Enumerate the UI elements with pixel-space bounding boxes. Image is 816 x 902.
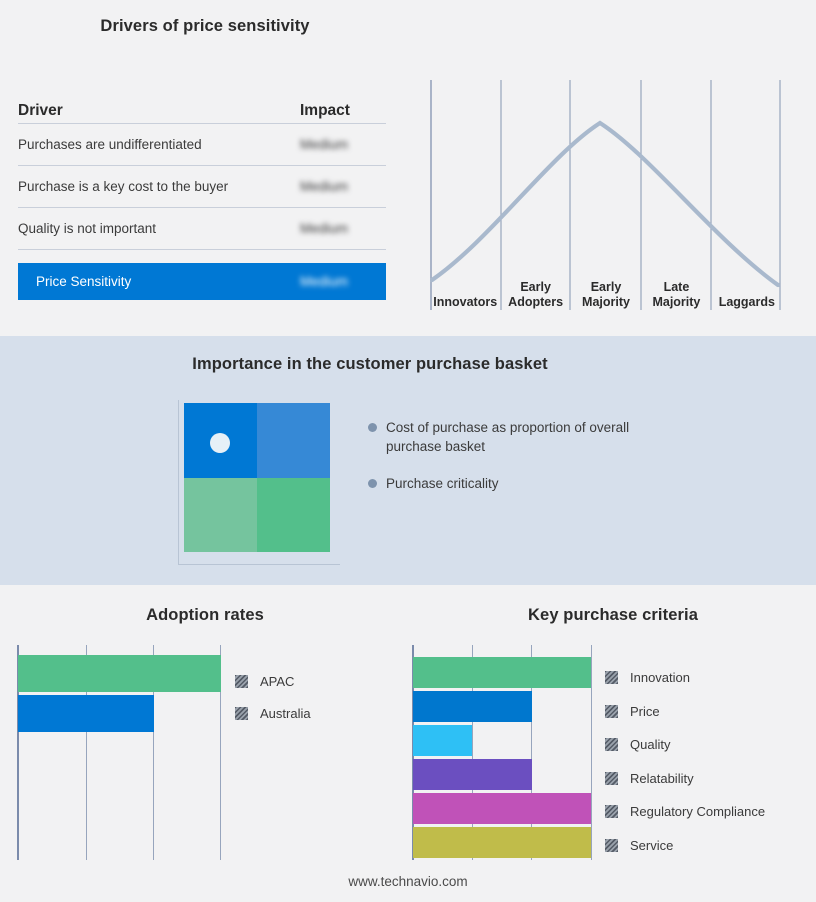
hatch-swatch-icon [605, 805, 618, 818]
bullet-icon [368, 423, 377, 432]
adoption-rates-panel-title: Adoption rates [0, 606, 410, 625]
list-item: Quality [605, 728, 805, 762]
column-header-driver: Driver [18, 102, 300, 120]
list-item: Service [605, 829, 805, 863]
lifecycle-stage-labels: Innovators Early Adopters Early Majority… [430, 270, 782, 312]
infographic-page: Drivers of price sensitivity Driver Impa… [0, 0, 816, 902]
column-header-impact: Impact [300, 102, 386, 120]
hatch-swatch-icon [235, 707, 248, 720]
importance-legend: Cost of purchase as proportion of overal… [368, 418, 658, 511]
list-item: Relatability [605, 762, 805, 796]
adoption-rates-chart [0, 645, 240, 860]
legend-label: Service [630, 838, 673, 853]
legend-label: Quality [630, 737, 670, 752]
driver-name: Quality is not important [18, 221, 300, 236]
table-row-highlighted: Price Sensitivity Medium [18, 263, 386, 300]
hatch-swatch-icon [605, 839, 618, 852]
impact-value: Medium [300, 137, 386, 152]
lifecycle-stage-early-majority: Early Majority [571, 270, 641, 312]
legend-label: Regulatory Compliance [630, 804, 765, 819]
importance-panel-title: Importance in the customer purchase bask… [0, 355, 740, 374]
impact-value: Medium [300, 221, 386, 236]
list-item: Cost of purchase as proportion of overal… [368, 418, 658, 456]
key-purchase-criteria-legend: Innovation Price Quality Relatability Re… [605, 661, 805, 862]
stage-label-line2: Laggards [719, 295, 775, 310]
panel-drivers-of-price-sensitivity: Drivers of price sensitivity Driver Impa… [0, 0, 410, 336]
bar-australia [18, 695, 154, 732]
lifecycle-stage-laggards: Laggards [712, 270, 782, 312]
table-row: Quality is not important Medium [18, 208, 386, 250]
key-purchase-criteria-chart [400, 645, 610, 860]
impact-value: Medium [300, 179, 386, 194]
adoption-rates-legend: APAC Australia [235, 665, 385, 729]
quadrant-position-marker [210, 433, 230, 453]
stage-label-line1: Early [591, 280, 622, 295]
hatch-swatch-icon [235, 675, 248, 688]
table-row: Purchases are undifferentiated Medium [18, 124, 386, 166]
quadrant-cell-top-right [257, 403, 330, 478]
driver-name: Purchase is a key cost to the buyer [18, 179, 300, 194]
importance-legend-label: Cost of purchase as proportion of overal… [386, 418, 658, 456]
bar-regulatory-compliance [413, 793, 591, 824]
quadrant-cell-bottom-right [257, 478, 330, 553]
table-row: Purchase is a key cost to the buyer Medi… [18, 166, 386, 208]
bar-price [413, 691, 532, 722]
list-item: Australia [235, 697, 385, 729]
stage-label-line2: Majority [582, 295, 630, 310]
legend-label: APAC [260, 674, 294, 689]
stage-label-line1: Late [664, 280, 690, 295]
quadrant-cell-bottom-left [184, 478, 257, 553]
criteria-panel-title: Key purchase criteria [410, 606, 816, 625]
legend-label: Price [630, 704, 660, 719]
stage-label-line2: Majority [652, 295, 700, 310]
drivers-panel-title: Drivers of price sensitivity [0, 17, 410, 36]
stage-label-line1: Early [520, 280, 551, 295]
drivers-table-header-row: Driver Impact [18, 90, 386, 124]
hatch-swatch-icon [605, 738, 618, 751]
footer-url: www.technavio.com [0, 874, 816, 889]
lifecycle-stage-innovators: Innovators [430, 270, 500, 312]
list-item: Innovation [605, 661, 805, 695]
legend-label: Australia [260, 706, 311, 721]
hatch-swatch-icon [605, 705, 618, 718]
impact-value: Medium [300, 274, 386, 289]
bar-quality [413, 725, 472, 756]
legend-label: Innovation [630, 670, 690, 685]
gridline-3 [591, 645, 592, 860]
list-item: Price [605, 695, 805, 729]
legend-label: Relatability [630, 771, 694, 786]
hatch-swatch-icon [605, 772, 618, 785]
bar-apac [18, 655, 221, 692]
bar-innovation [413, 657, 591, 688]
list-item: Regulatory Compliance [605, 795, 805, 829]
lifecycle-stage-early-adopters: Early Adopters [500, 270, 570, 312]
bar-service [413, 827, 591, 858]
list-item: Purchase criticality [368, 474, 658, 493]
lifecycle-curve-path [432, 123, 778, 285]
driver-name: Purchases are undifferentiated [18, 137, 300, 152]
lifecycle-stage-late-majority: Late Majority [641, 270, 711, 312]
bullet-icon [368, 479, 377, 488]
stage-label-line2: Innovators [433, 295, 497, 310]
importance-legend-label: Purchase criticality [386, 474, 499, 493]
hatch-swatch-icon [605, 671, 618, 684]
quadrant-matrix [184, 403, 330, 552]
list-item: APAC [235, 665, 385, 697]
driver-name: Price Sensitivity [36, 274, 300, 289]
bar-relatability [413, 759, 532, 790]
stage-label-line2: Adopters [508, 295, 563, 310]
drivers-table: Driver Impact Purchases are undifferenti… [18, 90, 386, 300]
